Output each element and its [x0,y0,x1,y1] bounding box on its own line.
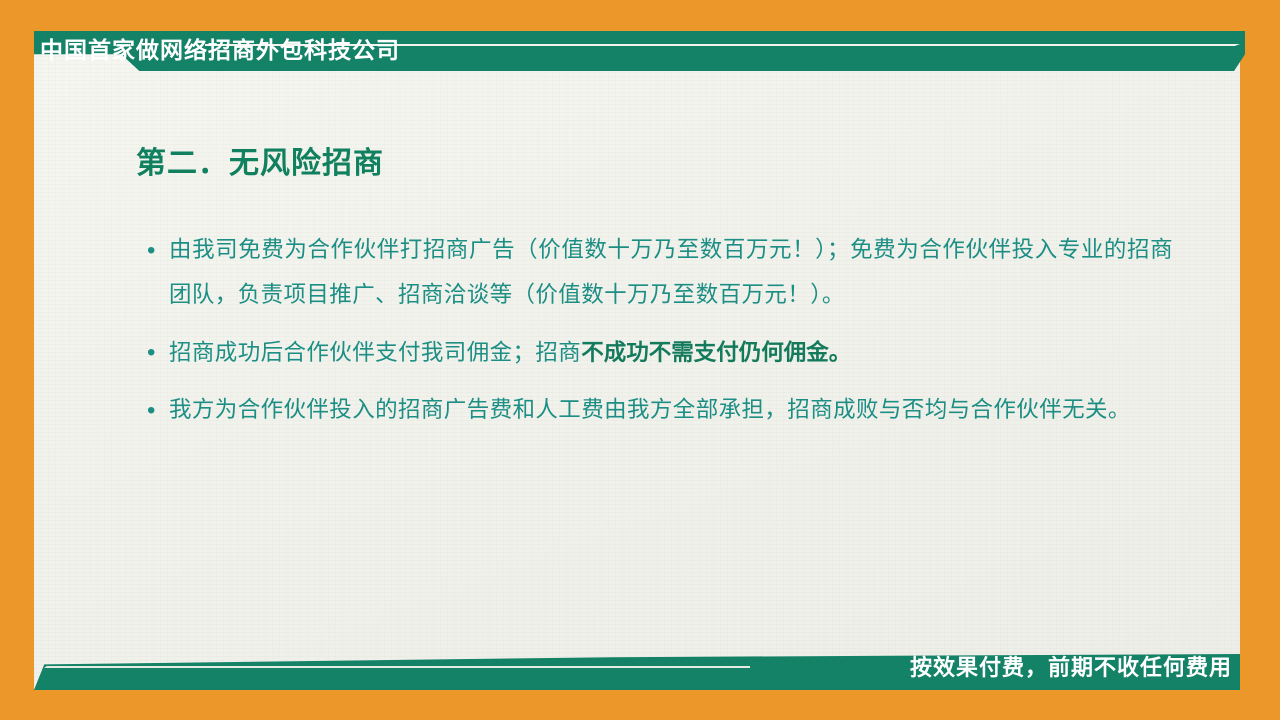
body-text: 我方为合作伙伴投入的招商广告费和人工费由我方全部承担，招商成败与否均与合作伙伴无… [169,397,1131,423]
page-title: 第二．无风险招商 [136,138,384,182]
footer-tagline: 按效果付费，前期不收任何费用 [910,651,1232,685]
list-item: •由我司免费为合作伙伴打招商广告（价值数十万乃至数百万元！）；免费为合作伙伴投入… [143,228,1173,318]
list-item-text: 由我司免费为合作伙伴打招商广告（价值数十万乃至数百万元！）；免费为合作伙伴投入专… [169,228,1173,318]
bullet-dot-icon: • [143,228,169,273]
list-item: •我方为合作伙伴投入的招商广告费和人工费由我方全部承担，招商成败与否均与合作伙伴… [143,388,1173,433]
slide-canvas: 中国首家做网络招商外包科技公司 第二．无风险招商 •由我司免费为合作伙伴打招商广… [0,0,1280,720]
list-item: •招商成功后合作伙伴支付我司佣金；招商不成功不需支付仍何佣金。 [143,330,1173,376]
bullet-dot-icon: • [143,388,169,433]
body-text: 招商成功后合作伙伴支付我司佣金；招商 [169,340,581,366]
emphasis-text: 不成功不需支付仍何佣金。 [581,340,851,365]
list-item-text: 招商成功后合作伙伴支付我司佣金；招商不成功不需支付仍何佣金。 [169,330,1173,376]
company-banner-title: 中国首家做网络招商外包科技公司 [40,33,400,67]
bullet-dot-icon: • [143,330,169,375]
body-text: 由我司免费为合作伙伴打招商广告（价值数十万乃至数百万元！）；免费为合作伙伴投入专… [169,237,1173,308]
bullet-list: •由我司免费为合作伙伴打招商广告（价值数十万乃至数百万元！）；免费为合作伙伴投入… [143,228,1173,445]
list-item-text: 我方为合作伙伴投入的招商广告费和人工费由我方全部承担，招商成败与否均与合作伙伴无… [169,388,1173,433]
footer-divider-line [44,666,750,668]
